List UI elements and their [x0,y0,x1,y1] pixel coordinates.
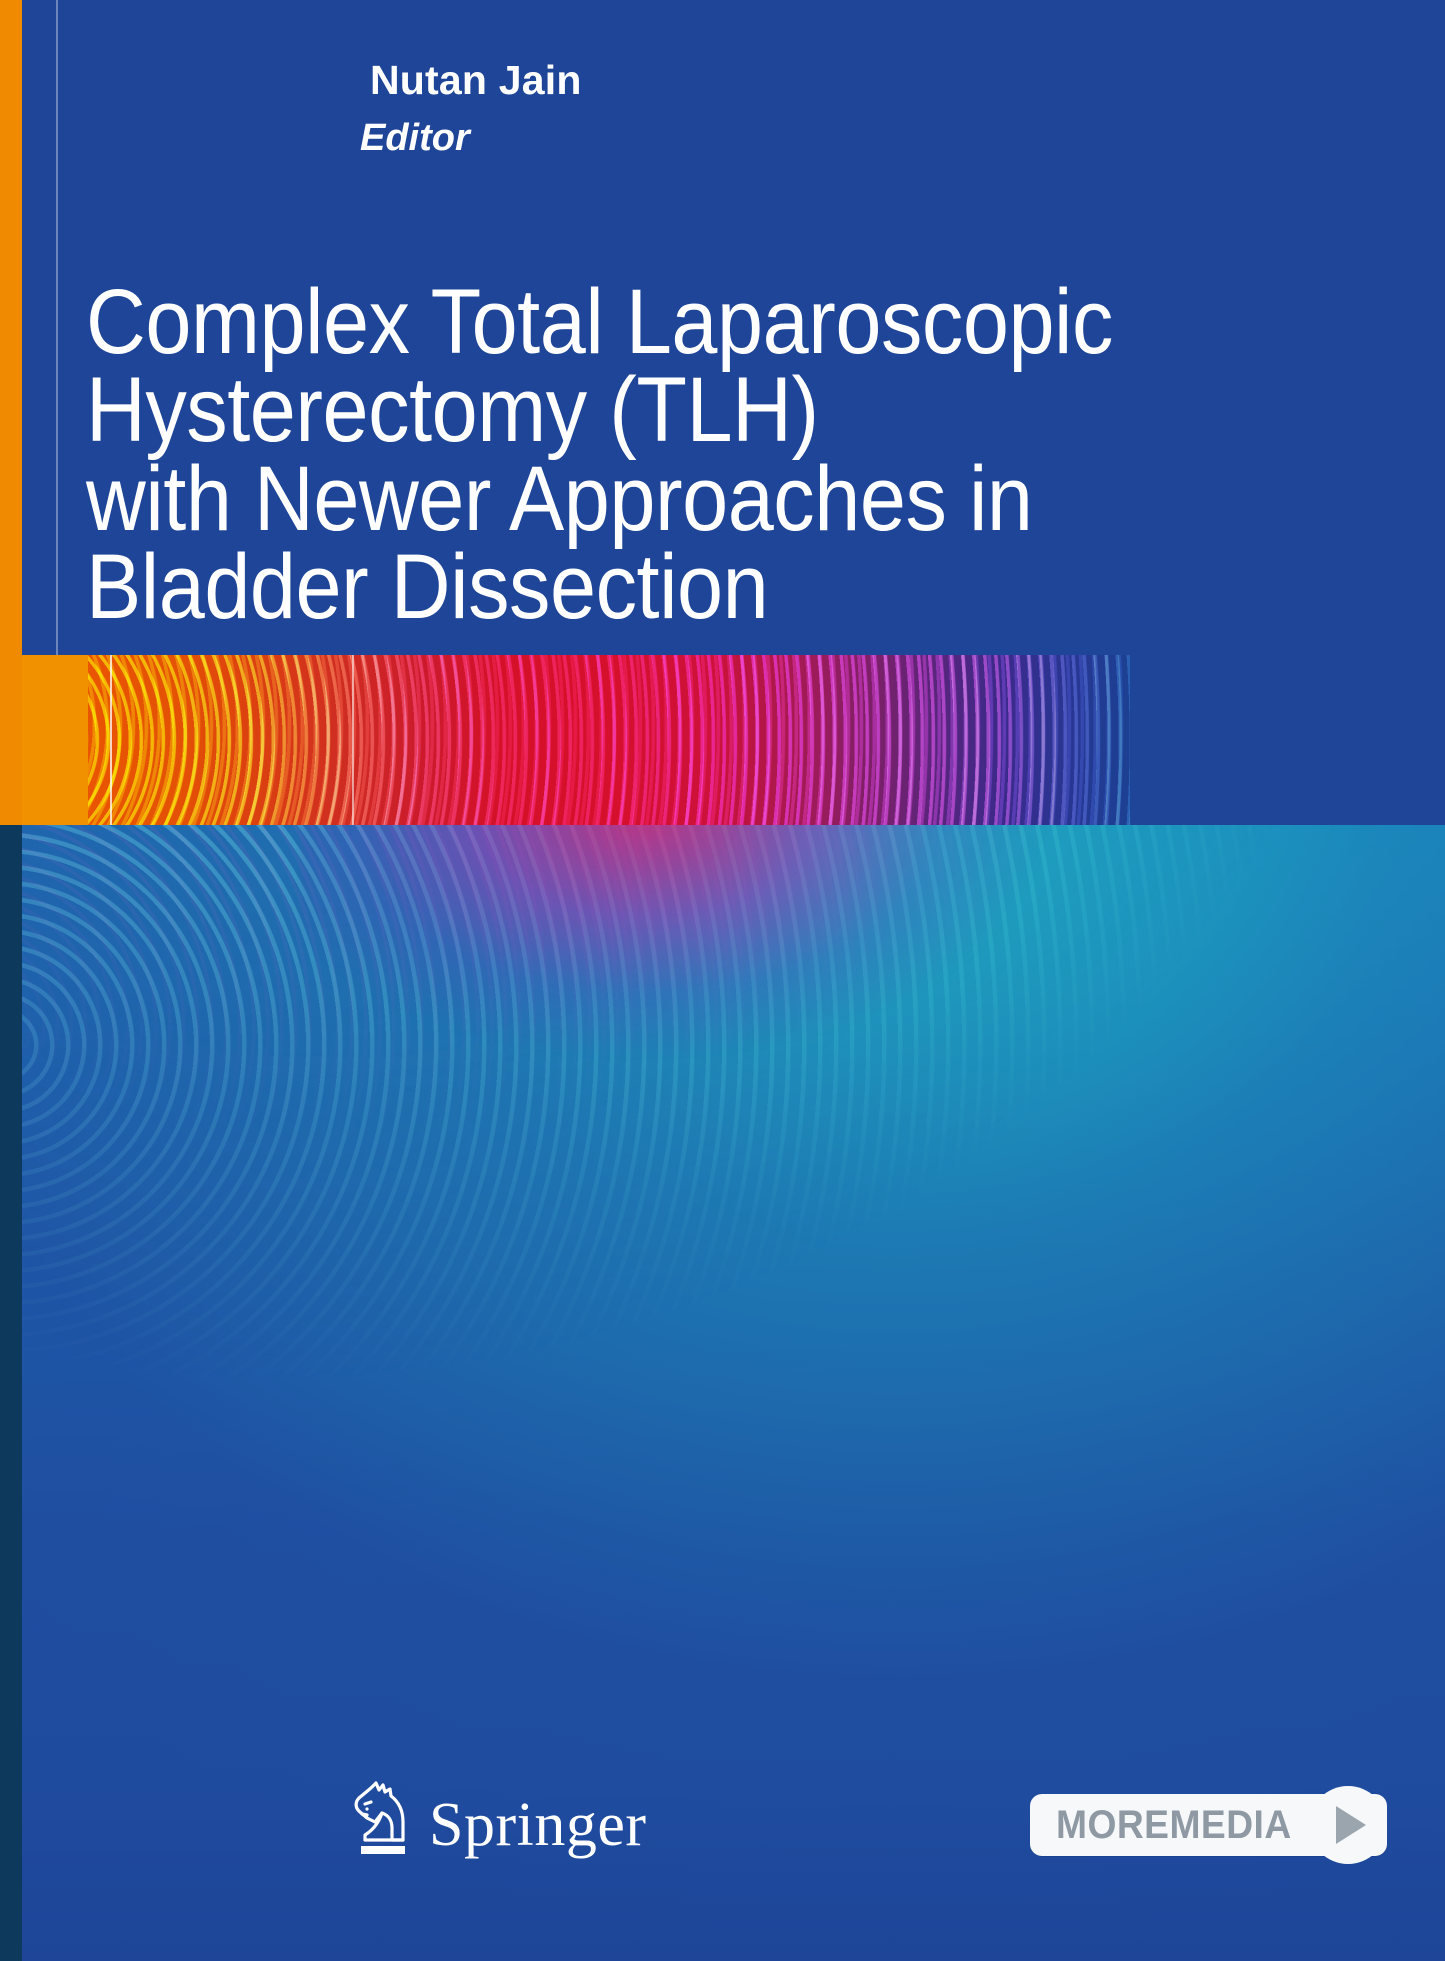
title-line-4: Bladder Dissection [86,543,1256,631]
book-title: Complex Total Laparoscopic Hysterectomy … [86,278,1256,631]
spine-bar-navy [0,825,22,1961]
artwork-strip [88,655,1130,825]
editor-name: Nutan Jain [370,57,582,104]
editor-role: Editor [360,117,470,160]
artwork-hairline-left [110,655,112,825]
spine-bar-orange [0,0,22,825]
play-icon [1336,1806,1366,1844]
title-line-3: with Newer Approaches in [86,455,1256,543]
title-line-1: Complex Total Laparoscopic [86,278,1256,366]
book-cover: Nutan Jain Editor Complex Total Laparosc… [0,0,1445,1961]
magenta-glow [300,818,1120,1238]
moremedia-label: MOREMEDIA [1056,1803,1292,1848]
springer-knight-icon [345,1778,413,1860]
moremedia-play-button[interactable] [1309,1786,1387,1864]
springer-wordmark: Springer [429,1794,647,1856]
orange-block-left [22,655,88,825]
spine-rule-line [56,0,58,655]
springer-logo: Springer [345,1778,647,1860]
artwork-hairline-mid [352,655,354,825]
moremedia-badge[interactable]: MOREMEDIA [1030,1786,1387,1864]
strip-fade-overlay [88,655,1130,825]
title-line-2: Hysterectomy (TLH) [86,366,1256,454]
